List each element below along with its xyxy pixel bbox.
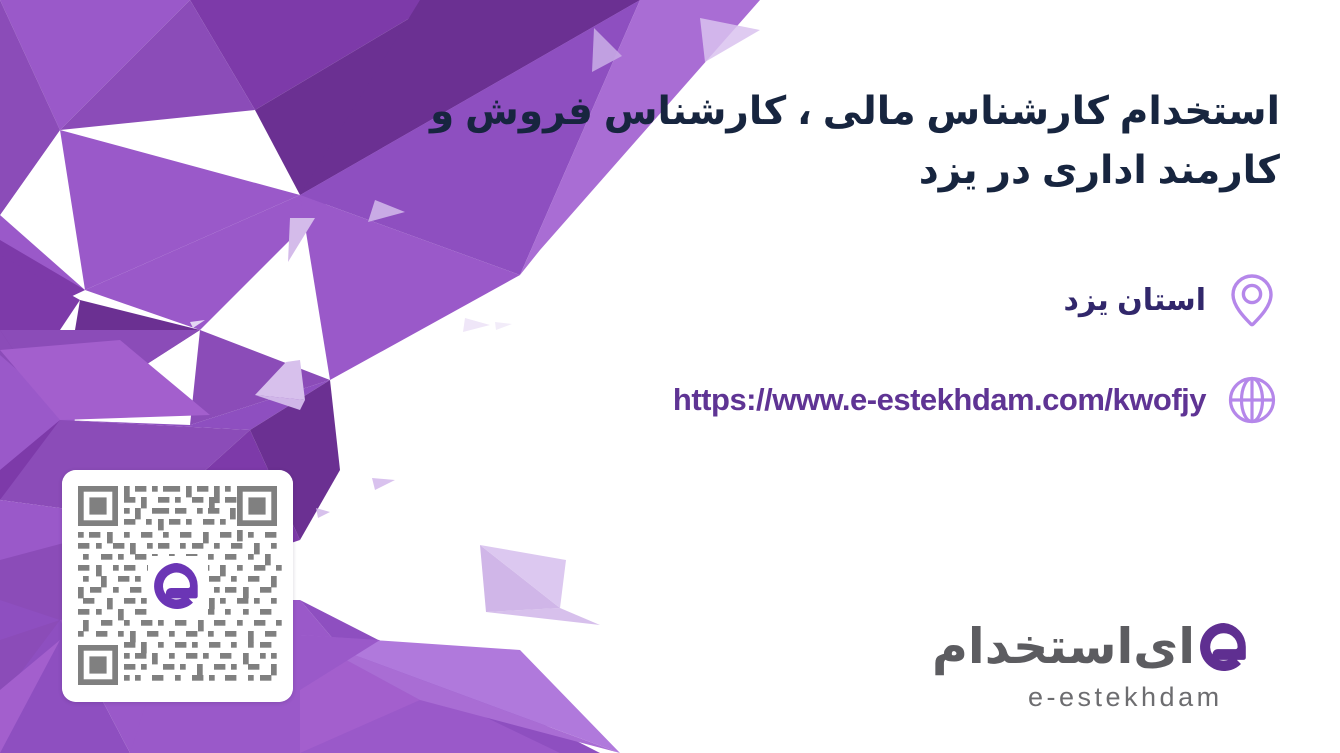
globe-icon [1224, 372, 1280, 428]
qr-code[interactable] [62, 470, 293, 702]
job-banner: استخدام کارشناس مالی ، کارشناس فروش و کا… [0, 0, 1340, 753]
map-pin-icon [1224, 272, 1280, 328]
page-title: استخدام کارشناس مالی ، کارشناس فروش و کا… [380, 82, 1280, 201]
brand-logo: ای‌استخدام e-estekhdam [932, 618, 1272, 720]
logo-wordmark-row: ای‌استخدام [932, 618, 1272, 678]
location-text: استان یزد [1063, 283, 1206, 318]
url-row[interactable]: https://www.e-estekhdam.com/kwofjy [673, 372, 1280, 428]
logo-wordmark-fa: ای‌استخدام [932, 618, 1195, 676]
job-url-text[interactable]: https://www.e-estekhdam.com/kwofjy [673, 382, 1206, 418]
e-logo-mark [1195, 618, 1253, 676]
location-row: استان یزد [1063, 272, 1280, 328]
logo-wordmark-en: e-estekhdam [932, 682, 1272, 713]
